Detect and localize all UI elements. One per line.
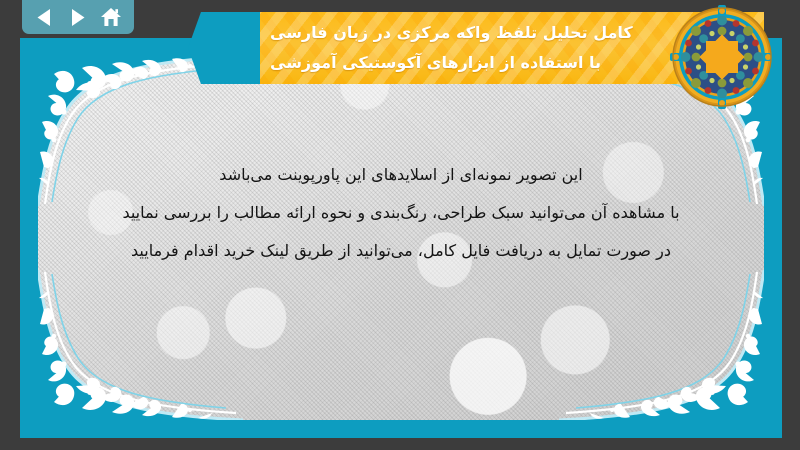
slide-title-banner: کامل تحلیل تلفظ واکه مرکزی در زبان فارسی… (188, 12, 764, 84)
slide-frame: این تصویر نمونه‌ای از اسلایدهای این پاور… (20, 38, 782, 438)
title-line-1: کامل تحلیل تلفظ واکه مرکزی در زبان فارسی (270, 18, 633, 48)
slide-viewer: این تصویر نمونه‌ای از اسلایدهای این پاور… (0, 0, 800, 450)
title-arrow-shape (188, 12, 260, 84)
slide-content-area: این تصویر نمونه‌ای از اسلایدهای این پاور… (38, 56, 764, 420)
triangle-left-icon (36, 8, 53, 27)
body-line-2: با مشاهده آن می‌توانید سبک طراحی، رنگ‌بن… (78, 194, 724, 232)
home-button[interactable] (97, 4, 125, 30)
back-button[interactable] (31, 4, 59, 30)
triangle-right-icon (69, 8, 86, 27)
navigation-toolbar (22, 0, 134, 34)
body-line-1: این تصویر نمونه‌ای از اسلایدهای این پاور… (78, 156, 724, 194)
slide-body-text: این تصویر نمونه‌ای از اسلایدهای این پاور… (78, 156, 724, 270)
forward-button[interactable] (64, 4, 92, 30)
arabesque-corner-ornament-bottom-left (38, 270, 243, 420)
title-banner-body: کامل تحلیل تلفظ واکه مرکزی در زبان فارسی… (260, 12, 764, 84)
body-line-3: در صورت تمایل به دریافت فایل کامل، می‌تو… (78, 232, 724, 270)
home-icon (100, 7, 122, 27)
title-line-2: با استفاده از ابزارهای آکوستیکی آموزشی (270, 48, 601, 78)
arabesque-corner-ornament-bottom-right (559, 270, 764, 420)
